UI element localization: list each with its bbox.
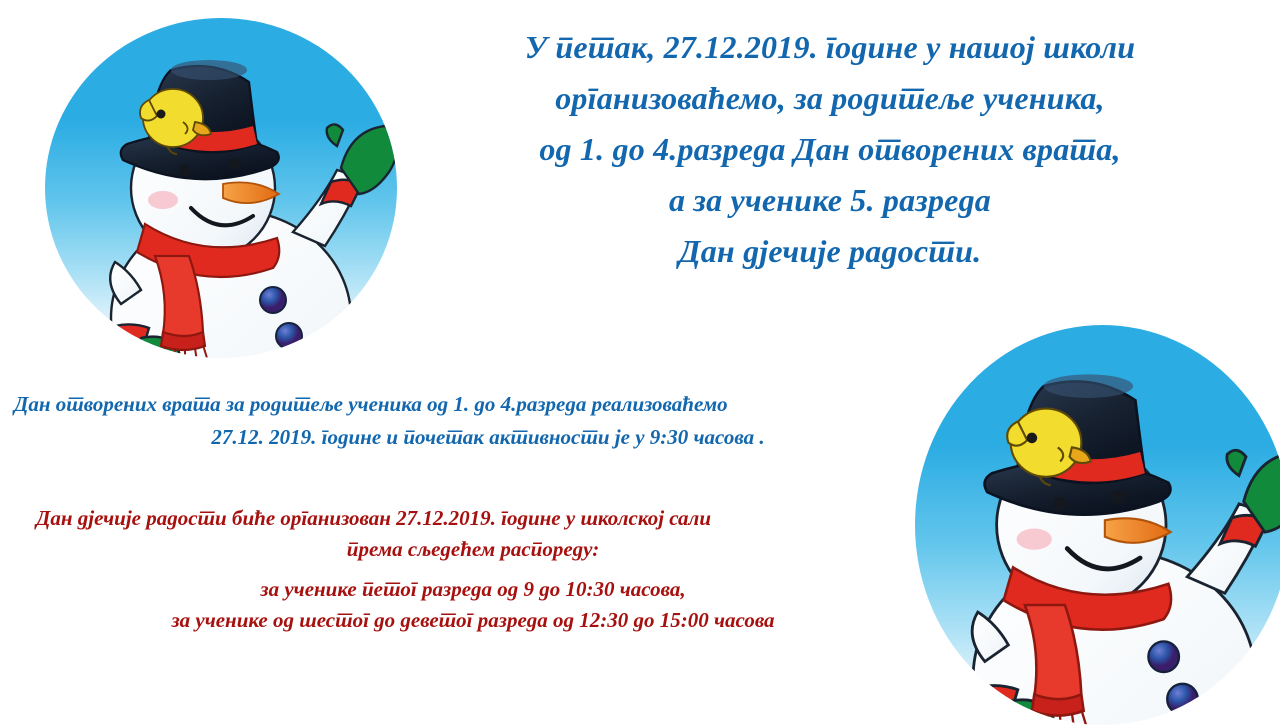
heading-line-2: организоваћемо, за родитеље ученика,	[430, 73, 1230, 124]
heading-line-5: Дан дјечије радости.	[430, 226, 1230, 277]
joy-day-line-3: за ученике петог разреда од 9 до 10:30 ч…	[8, 574, 938, 605]
snowman-artwork	[45, 18, 397, 358]
open-doors-day-paragraph: Дан отворених врата за родитеље ученика …	[8, 388, 968, 454]
announcement-heading: У петак, 27.12.2019. године у нашој школ…	[430, 22, 1230, 277]
open-doors-line-2: 27.12. 2019. године и почетак активности…	[8, 421, 968, 454]
right-mitten	[1220, 450, 1280, 546]
heading-line-4: а за ученике 5. разреда	[430, 175, 1230, 226]
heading-line-1: У петак, 27.12.2019. године у нашој школ…	[430, 22, 1230, 73]
snowman-illustration-top-left	[45, 18, 397, 358]
joy-day-line-1: Дан дјечије радости биће организован 27.…	[8, 503, 938, 534]
open-doors-line-1: Дан отворених врата за родитеље ученика …	[8, 388, 968, 421]
joy-day-line-4: за ученике од шестог до деветог разреда …	[8, 605, 938, 636]
snowman-artwork	[915, 325, 1280, 725]
paragraph-spacer	[8, 565, 938, 574]
snowman-illustration-bottom-right	[915, 325, 1280, 725]
heading-line-3: од 1. до 4.разреда Дан отворених врата,	[430, 124, 1230, 175]
right-mitten	[321, 124, 397, 206]
joy-day-line-2: према сљедећем распореду:	[8, 534, 938, 565]
childrens-joy-day-paragraph: Дан дјечије радости биће организован 27.…	[8, 503, 938, 636]
